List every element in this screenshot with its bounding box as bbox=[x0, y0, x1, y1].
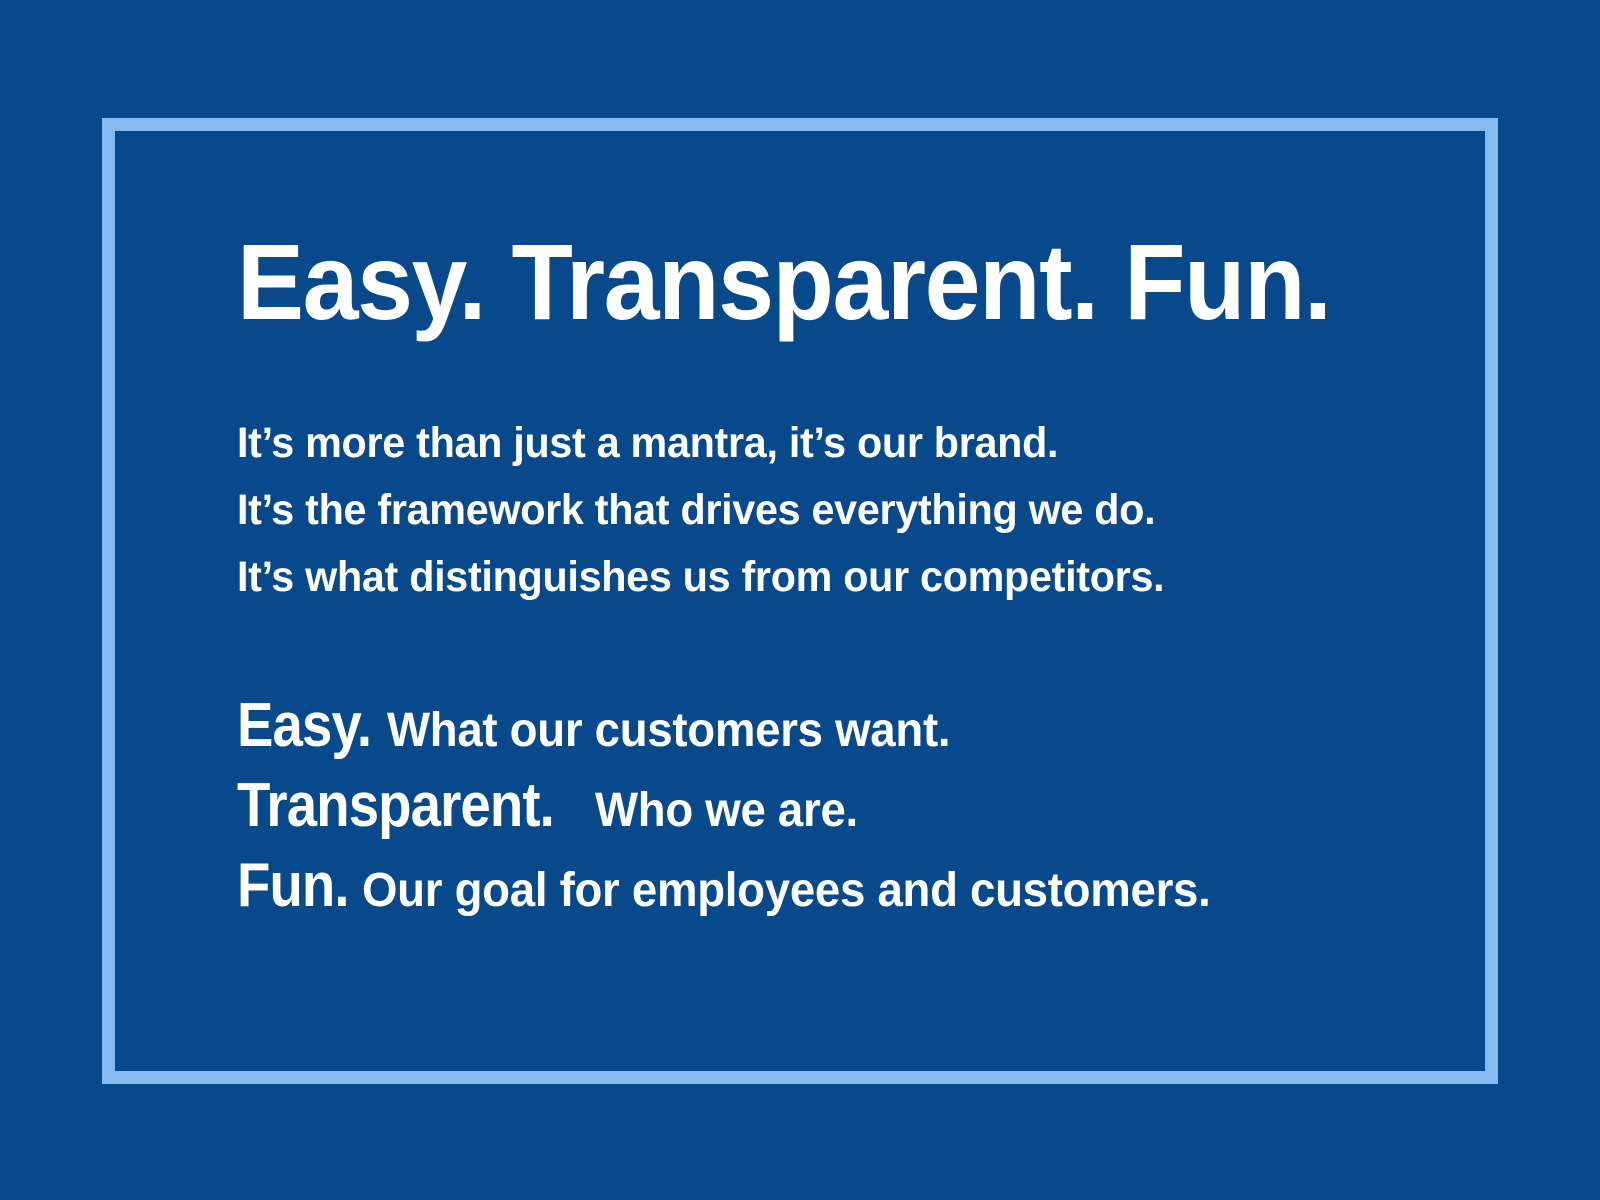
definition-description-transparent: Who we are. bbox=[595, 771, 858, 851]
intro-line-1: It’s more than just a mantra, it’s our b… bbox=[237, 410, 1164, 477]
definition-description-easy: What our customers want. bbox=[387, 691, 950, 771]
definition-description-fun: Our goal for employees and customers. bbox=[362, 851, 1210, 931]
list-item: Easy.What our customers want. bbox=[237, 686, 1255, 766]
slide-content: Easy. Transparent. Fun. It’s more than j… bbox=[237, 118, 1417, 1084]
brand-mantra-slide: Easy. Transparent. Fun. It’s more than j… bbox=[0, 0, 1600, 1200]
intro-line-2: It’s the framework that drives everythin… bbox=[237, 477, 1164, 544]
intro-paragraph: It’s more than just a mantra, it’s our b… bbox=[237, 410, 1164, 611]
list-item: Transparent.Who we are. bbox=[237, 766, 1255, 846]
definition-list: Easy.What our customers want. Transparen… bbox=[237, 686, 1255, 926]
definition-term-easy: Easy. bbox=[237, 686, 371, 766]
intro-line-3: It’s what distinguishes us from our comp… bbox=[237, 544, 1164, 611]
definition-term-transparent: Transparent. bbox=[237, 766, 554, 846]
page-title: Easy. Transparent. Fun. bbox=[237, 228, 1331, 336]
list-item: Fun.Our goal for employees and customers… bbox=[237, 846, 1255, 926]
definition-term-fun: Fun. bbox=[237, 846, 349, 926]
